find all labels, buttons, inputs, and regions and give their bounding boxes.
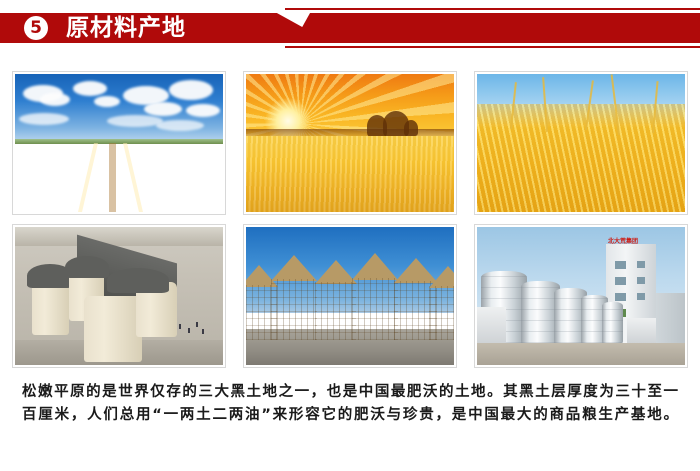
photo-frame-golden-wheat-ears-closeup[interactable] <box>474 71 688 215</box>
section-header-banner: 5 原材料产地 <box>0 0 700 56</box>
golden-wheat-ears-closeup-image <box>477 74 685 212</box>
sunrise-over-wheat-field-image <box>246 74 454 212</box>
round-grain-silos-aerial-image <box>15 227 223 365</box>
banner-hairline-top <box>285 8 700 10</box>
pyramid-grain-stacks-image <box>246 227 454 365</box>
plant-building-sign: 北大荒集团 <box>608 239 638 245</box>
photo-gallery-grid: 北大荒集团 <box>12 71 688 377</box>
photo-frame-sunrise-over-wheat-field[interactable] <box>243 71 457 215</box>
photo-frame-wheat-field-blue-sky[interactable] <box>12 71 226 215</box>
photo-frame-pyramid-grain-stacks[interactable] <box>243 224 457 368</box>
caption-line-2: 百厘米，人们总用“一两土二两油”来形容它的肥沃与珍贵，是中国最大的商品粮生产基地… <box>22 404 678 427</box>
gallery-row-bottom: 北大荒集团 <box>12 224 688 368</box>
caption-block: 松嫩平原的是世界仅存的三大黑土地之一，也是中国最肥沃的土地。其黑土层厚度为三十至… <box>0 381 700 427</box>
wheat-field-blue-sky-image <box>15 74 223 212</box>
section-number-badge: 5 <box>24 16 48 40</box>
section-title: 原材料产地 <box>66 14 186 42</box>
photo-frame-steel-storage-tanks-plant[interactable]: 北大荒集团 <box>474 224 688 368</box>
photo-frame-round-grain-silos-aerial[interactable] <box>12 224 226 368</box>
steel-storage-tanks-plant-image: 北大荒集团 <box>477 227 685 365</box>
gallery-row-top <box>12 71 688 215</box>
raw-material-origin-page: 5 原材料产地 <box>0 0 700 471</box>
caption-line-1: 松嫩平原的是世界仅存的三大黑土地之一，也是中国最肥沃的土地。其黑土层厚度为三十至… <box>22 381 678 404</box>
banner-hairline-bottom <box>285 46 700 48</box>
